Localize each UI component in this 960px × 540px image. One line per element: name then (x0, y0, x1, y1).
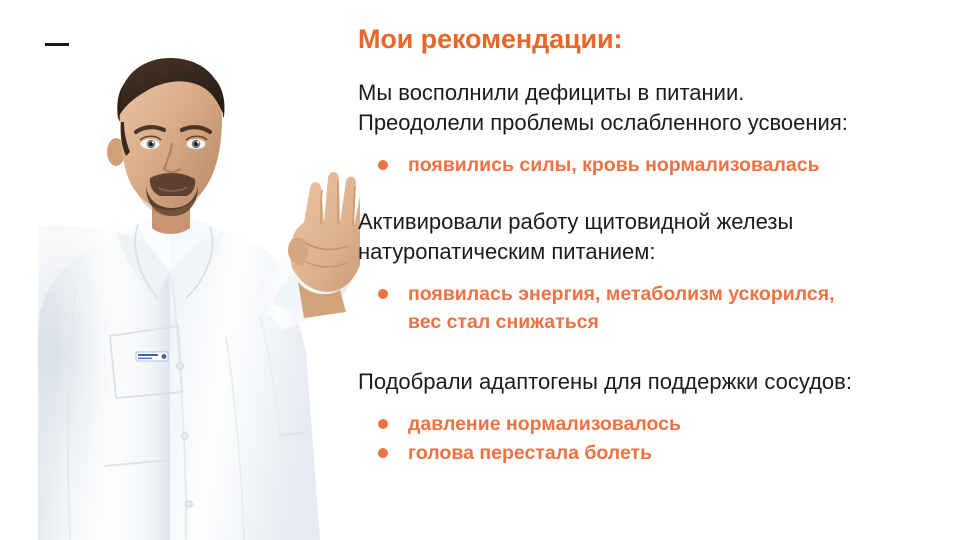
section-2-paragraph: Активировали работу щитовидной железы на… (358, 207, 954, 267)
list-item: давление нормализовалось (378, 410, 954, 438)
bullet-dot-icon (378, 289, 388, 299)
section-1-bullet-list: появились силы, кровь нормализовалась (358, 151, 954, 179)
bullet-line: голова перестала болеть (408, 439, 954, 467)
section-3: Подобрали адаптогены для поддержки сосуд… (358, 367, 954, 467)
bullet-dot-icon (378, 160, 388, 170)
section-spacer (358, 348, 954, 367)
section-2-bullet-list: появилась энергия, метаболизм ускорился,… (358, 280, 954, 336)
paragraph-line: Подобрали адаптогены для поддержки сосуд… (358, 367, 954, 397)
bullet-dot-icon (378, 448, 388, 458)
list-item: появилась энергия, метаболизм ускорился,… (378, 280, 954, 336)
paragraph-line: Преодолели проблемы ослабленного усвоени… (358, 108, 954, 138)
list-item: появились силы, кровь нормализовалась (378, 151, 954, 179)
bullet-line: вес стал снижаться (408, 308, 954, 336)
bullet-dot-icon (378, 419, 388, 429)
paragraph-line: Мы восполнили дефициты в питании. (358, 78, 954, 108)
section-1-paragraph: Мы восполнили дефициты в питании. Преодо… (358, 78, 954, 138)
slide-root: Мои рекомендации: Мы восполнили дефициты… (0, 0, 960, 540)
section-3-bullet-list: давление нормализовалось голова перестал… (358, 410, 954, 467)
section-2: Активировали работу щитовидной железы на… (358, 207, 954, 336)
section-3-paragraph: Подобрали адаптогены для поддержки сосуд… (358, 367, 954, 397)
page-title: Мои рекомендации: (358, 22, 954, 56)
doctor-photo-illustration (20, 36, 360, 540)
bullet-line: давление нормализовалось (408, 410, 954, 438)
coat-badge (136, 352, 168, 361)
doctor-photo (20, 36, 360, 540)
section-1: Мы восполнили дефициты в питании. Преодо… (358, 78, 954, 179)
list-item: голова перестала болеть (378, 439, 954, 467)
bullet-line: появилась энергия, метаболизм ускорился, (408, 280, 954, 308)
doctor-head (107, 58, 225, 216)
text-content-column: Мои рекомендации: Мы восполнили дефициты… (358, 22, 954, 473)
paragraph-line: Активировали работу щитовидной железы (358, 207, 954, 237)
paragraph-line: натуропатическим питанием: (358, 237, 954, 267)
section-spacer (358, 191, 954, 207)
bullet-line: появились силы, кровь нормализовалась (408, 151, 954, 179)
